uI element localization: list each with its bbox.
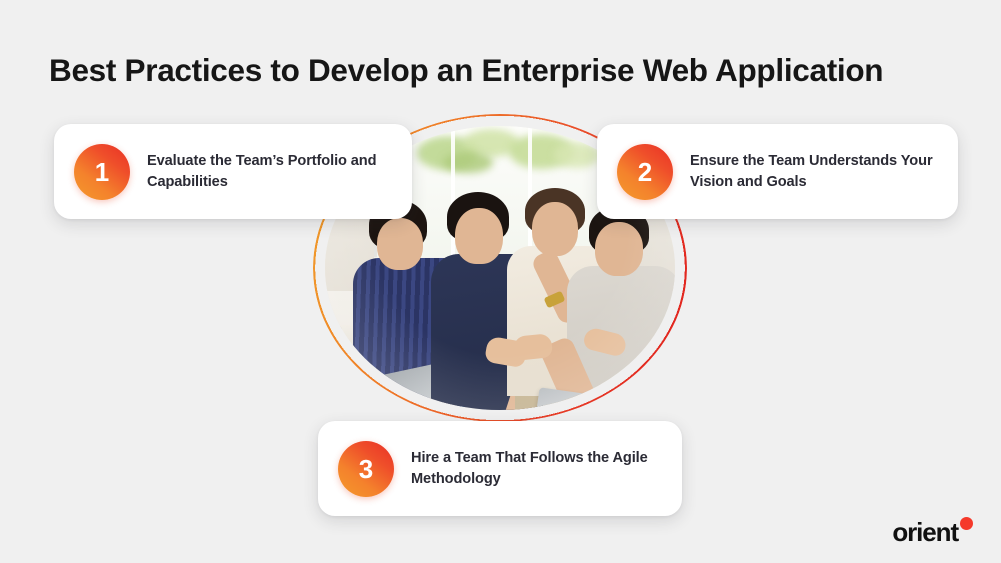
head [595,222,643,276]
person-grey-tee [583,206,675,410]
step-card-1[interactable]: 1 Evaluate the Team’s Portfolio and Capa… [54,124,412,219]
step-label-3: Hire a Team That Follows the Agile Metho… [411,448,664,488]
head [377,218,423,270]
logo-dot-icon [960,517,973,530]
step-label-1: Evaluate the Team’s Portfolio and Capabi… [147,151,394,191]
head [532,202,578,256]
logo-wordmark: orient [892,519,958,545]
step-card-3[interactable]: 3 Hire a Team That Follows the Agile Met… [318,421,682,516]
page-title: Best Practices to Develop an Enterprise … [49,52,959,90]
head [455,208,503,264]
infographic-canvas: Best Practices to Develop an Enterprise … [0,0,1001,563]
step-label-2: Ensure the Team Understands Your Vision … [690,151,940,191]
step-number-badge-2: 2 [617,144,673,200]
step-number-badge-1: 1 [74,144,130,200]
hand [513,333,553,361]
step-number-badge-3: 3 [338,441,394,497]
orient-logo[interactable]: orient [892,519,973,545]
foliage [554,142,600,168]
step-card-2[interactable]: 2 Ensure the Team Understands Your Visio… [597,124,958,219]
